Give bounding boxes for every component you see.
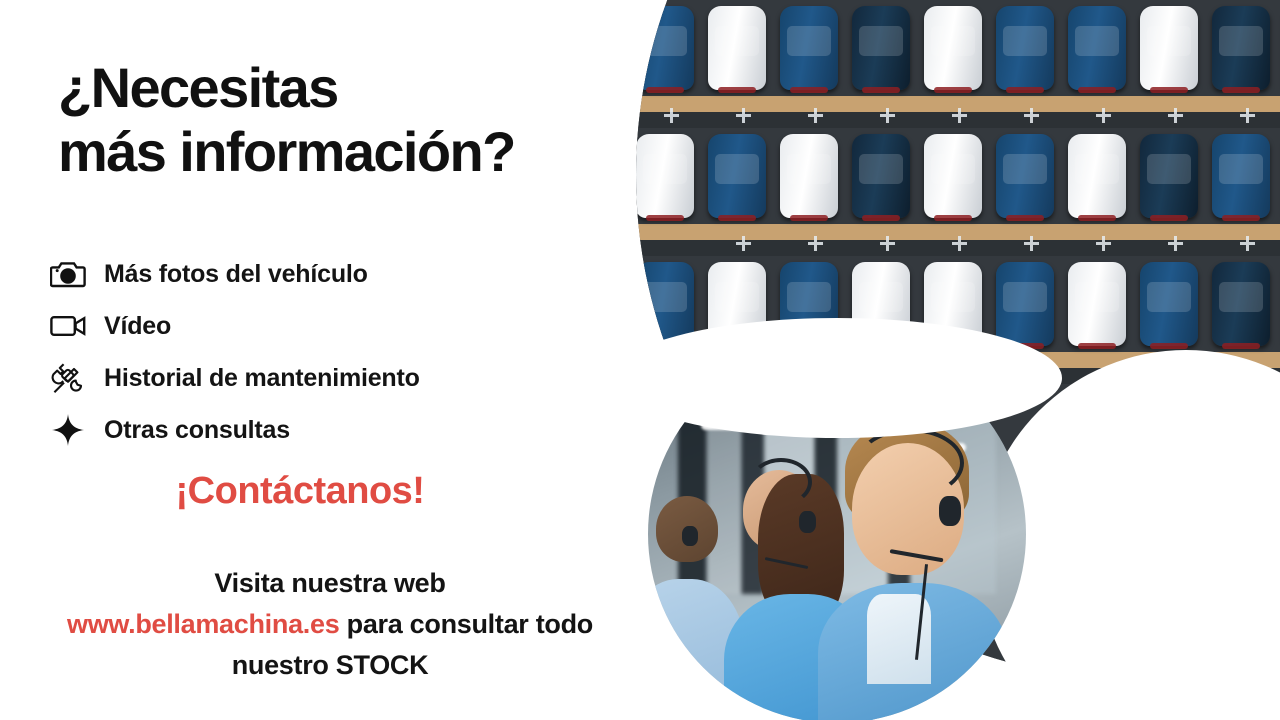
contact-cta-text: ¡Contáctanos! [176, 470, 425, 512]
list-item-video: Vídeo [46, 300, 420, 352]
video-camera-icon [46, 308, 90, 344]
website-block: Visita nuestra web www.bellamachina.es p… [0, 563, 660, 686]
list-item-more-photos: Más fotos del vehículo [46, 248, 420, 300]
list-item-label: Historial de mantenimiento [104, 364, 420, 393]
list-item-other-queries: Otras consultas [46, 404, 420, 456]
contact-cta: ¡Contáctanos! [0, 470, 600, 513]
list-item-label: Más fotos del vehículo [104, 260, 368, 289]
list-item-label: Otras consultas [104, 416, 290, 445]
visit-web-label: Visita nuestra web [214, 568, 445, 598]
sparkle-icon [46, 412, 90, 448]
stock-label: nuestro STOCK [232, 650, 429, 680]
wrench-hand-icon [46, 360, 90, 396]
feature-list: Más fotos del vehículo Vídeo [46, 248, 420, 456]
website-rest-label: para consultar todo [339, 609, 593, 639]
camera-icon [46, 256, 90, 292]
text-content: ¿Necesitas más información? Más fotos de… [0, 0, 680, 720]
promotional-poster: ¿Necesitas más información? Más fotos de… [0, 0, 1280, 720]
website-url[interactable]: www.bellamachina.es [67, 609, 339, 639]
list-item-maintenance-history: Historial de mantenimiento [46, 352, 420, 404]
page-title: ¿Necesitas más información? [58, 56, 678, 184]
list-item-label: Vídeo [104, 312, 171, 341]
